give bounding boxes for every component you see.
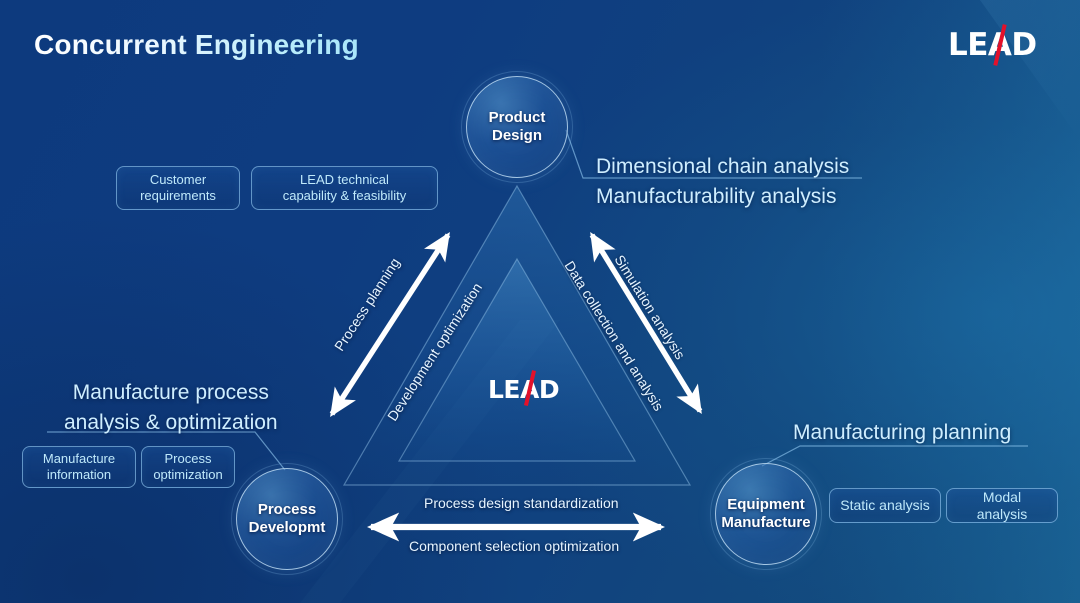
headline-left-line1: Manufacture process (64, 378, 278, 408)
pill-customer-requirements[interactable]: Customerrequirements (116, 166, 240, 210)
pill-process-optimization[interactable]: Processoptimization (141, 446, 235, 488)
pill-static-analysis[interactable]: Static analysis (829, 488, 941, 523)
arrow-label-development-optimization: Development optimization (384, 280, 485, 424)
slide-canvas: Concurrent Engineering LEAD LEAD Product… (0, 0, 1080, 603)
connector-bottom-right (762, 446, 1028, 466)
node-process-development[interactable]: ProcessDevelopmt (236, 468, 338, 570)
node-equipment-manufacture-label: EquipmentManufacture (721, 496, 810, 531)
headline-right-line1: Dimensional chain analysis (596, 152, 849, 182)
headline-left-line2: analysis & optimization (64, 408, 278, 438)
headline-manufacturing-planning: Manufacturing planning (793, 418, 1011, 448)
node-product-design-label: ProductDesign (489, 109, 546, 144)
pill-static-analysis-label: Static analysis (840, 497, 929, 514)
pill-manufacture-information[interactable]: Manufactureinformation (22, 446, 136, 488)
lead-logo-corner: LEAD (948, 24, 1044, 64)
pill-modal-analysis-label: Modal analysis (956, 489, 1048, 523)
node-process-development-label: ProcessDevelopmt (249, 501, 326, 536)
lead-logo-center-wordmark: LEAD (488, 377, 559, 402)
headline-right-line2: Manufacturability analysis (596, 182, 849, 212)
arrow-label-process-design-standardization: Process design standardization (424, 495, 619, 511)
headline-br-line1: Manufacturing planning (793, 418, 1011, 448)
pill-lead-technical-capability[interactable]: LEAD technicalcapability & feasibility (251, 166, 438, 210)
node-product-design[interactable]: ProductDesign (466, 76, 568, 178)
pill-modal-analysis[interactable]: Modal analysis (946, 488, 1058, 523)
node-equipment-manufacture[interactable]: EquipmentManufacture (715, 463, 817, 565)
page-title: Concurrent Engineering (34, 29, 359, 61)
arrow-label-data-collection-and-analysis: Data collection and analysis (561, 258, 667, 414)
outer-triangle (344, 186, 690, 485)
headline-product-design: Dimensional chain analysis Manufacturabi… (596, 152, 849, 213)
arrow-label-component-selection-optimization: Component selection optimization (409, 538, 619, 554)
arrow-label-process-planning: Process planning (331, 255, 403, 354)
lead-logo-center: LEAD (488, 371, 564, 405)
lead-logo-wordmark: LEAD (948, 30, 1037, 61)
headline-manufacture-process: Manufacture process analysis & optimizat… (64, 378, 278, 439)
